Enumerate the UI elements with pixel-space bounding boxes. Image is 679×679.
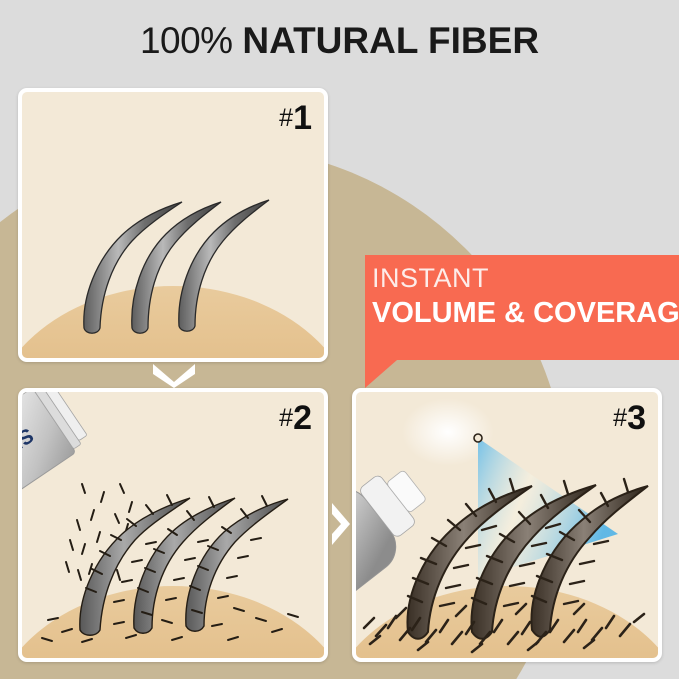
step-number-2: 2 — [293, 399, 312, 437]
step-number-1: 1 — [293, 99, 312, 137]
title-light-part: 100% — [140, 20, 233, 61]
step-panel-3[interactable]: SUPER HAIR — [352, 388, 662, 662]
arrow-right-step2-to-step3 — [328, 500, 354, 548]
nozzle-point — [474, 434, 482, 442]
callout-tail — [365, 360, 397, 388]
callout-line-2: VOLUME & COVERAGE — [372, 295, 672, 331]
chevron-down-icon — [150, 360, 198, 388]
arrow-down-step1-to-step2 — [150, 360, 198, 388]
step-label-3: #3 — [613, 400, 646, 436]
step-hash-3: # — [613, 404, 627, 432]
fiber-coated-strands — [80, 495, 288, 635]
page-title: 100% NATURAL FIBER — [0, 20, 679, 62]
step-panel-2[interactable]: SUPER MILL — [18, 388, 328, 662]
infographic-canvas: 100% NATURAL FIBER — [0, 0, 679, 679]
shaker-bottle: SUPER MILL — [22, 392, 92, 538]
callout-text: INSTANT VOLUME & COVERAGE — [372, 262, 672, 331]
callout-line-1: INSTANT — [372, 262, 672, 295]
step-hash-2: # — [279, 404, 293, 432]
step-panel-1[interactable]: #1 — [18, 88, 328, 362]
step-label-1: #1 — [279, 100, 312, 136]
title-bold-part: NATURAL FIBER — [242, 20, 539, 61]
step-number-3: 3 — [627, 399, 646, 437]
step-hash-1: # — [279, 104, 293, 132]
step-label-2: #2 — [279, 400, 312, 436]
scalp-fiber-mat — [364, 604, 644, 652]
chevron-right-icon — [328, 500, 354, 548]
